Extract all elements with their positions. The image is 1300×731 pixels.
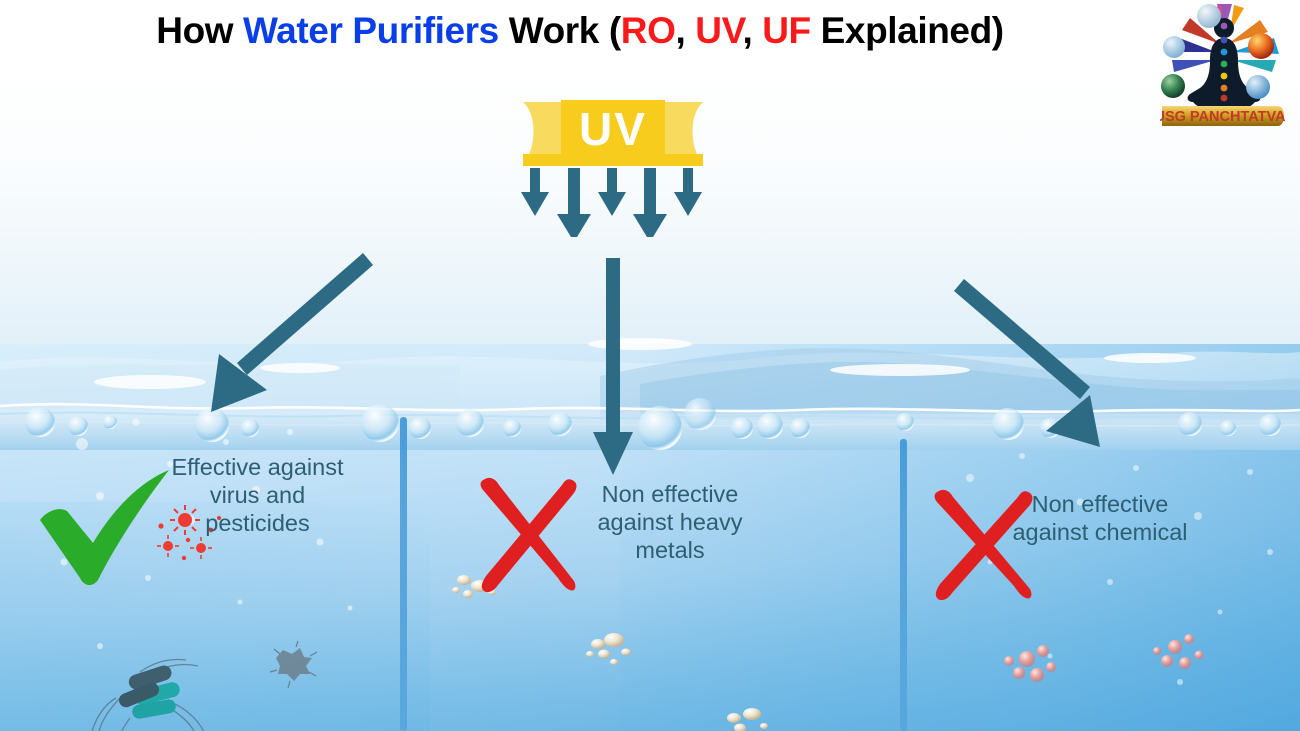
title-seg-water-purifiers: Water Purifiers bbox=[243, 10, 499, 51]
title-seg-uv: UV bbox=[695, 10, 742, 51]
panel-label-chemical: Non effective against chemical bbox=[1000, 490, 1200, 546]
title-seg-comma-2: , bbox=[742, 10, 762, 51]
infographic-canvas: Effective against virus and pesticides N… bbox=[0, 0, 1300, 731]
logo-brand-text: USG PANCHTATVA bbox=[1160, 109, 1286, 125]
title-seg-comma-1: , bbox=[675, 10, 695, 51]
panel-label-heavy-metals: Non effective against heavy metals bbox=[580, 480, 760, 564]
panel-3-line-2: against chemical bbox=[1000, 518, 1200, 546]
arrow-down-left bbox=[195, 247, 380, 432]
panel-1-line-3: pesticides bbox=[160, 509, 355, 537]
title-seg-explained: Explained) bbox=[811, 10, 1004, 51]
uv-lamp-icon: UV bbox=[515, 92, 711, 237]
panel-2-line-1: Non effective bbox=[580, 480, 760, 508]
bacteria-illustration bbox=[70, 632, 370, 731]
panel-1-line-2: virus and bbox=[160, 481, 355, 509]
arrow-down-right bbox=[950, 277, 1110, 462]
green-check-icon bbox=[36, 468, 176, 588]
page-title: How Water Purifiers Work (RO, UV, UF Exp… bbox=[0, 10, 1160, 52]
red-x-icon-metals bbox=[476, 476, 582, 592]
column-divider-1 bbox=[400, 417, 407, 731]
water-scene: Effective against virus and pesticides N… bbox=[0, 72, 1300, 731]
panel-2-line-3: metals bbox=[580, 536, 760, 564]
panel-2-line-2: against heavy bbox=[580, 508, 760, 536]
arrow-down bbox=[592, 258, 634, 480]
logo-brand-ribbon: USG PANCHTATVA bbox=[1160, 106, 1286, 126]
panel-label-virus-pesticides: Effective against virus and pesticides bbox=[160, 453, 355, 537]
title-bar: How Water Purifiers Work (RO, UV, UF Exp… bbox=[0, 0, 1300, 72]
panel-1-line-1: Effective against bbox=[160, 453, 355, 481]
title-seg-work-open: Work ( bbox=[499, 10, 621, 51]
title-seg-how: How bbox=[156, 10, 243, 51]
panel-3-line-1: Non effective bbox=[1000, 490, 1200, 518]
usg-panchtatva-logo[interactable]: USG PANCHTATVA bbox=[1160, 2, 1288, 128]
title-seg-uf: UF bbox=[762, 10, 811, 51]
column-divider-2 bbox=[900, 439, 907, 731]
title-seg-ro: RO bbox=[621, 10, 676, 51]
